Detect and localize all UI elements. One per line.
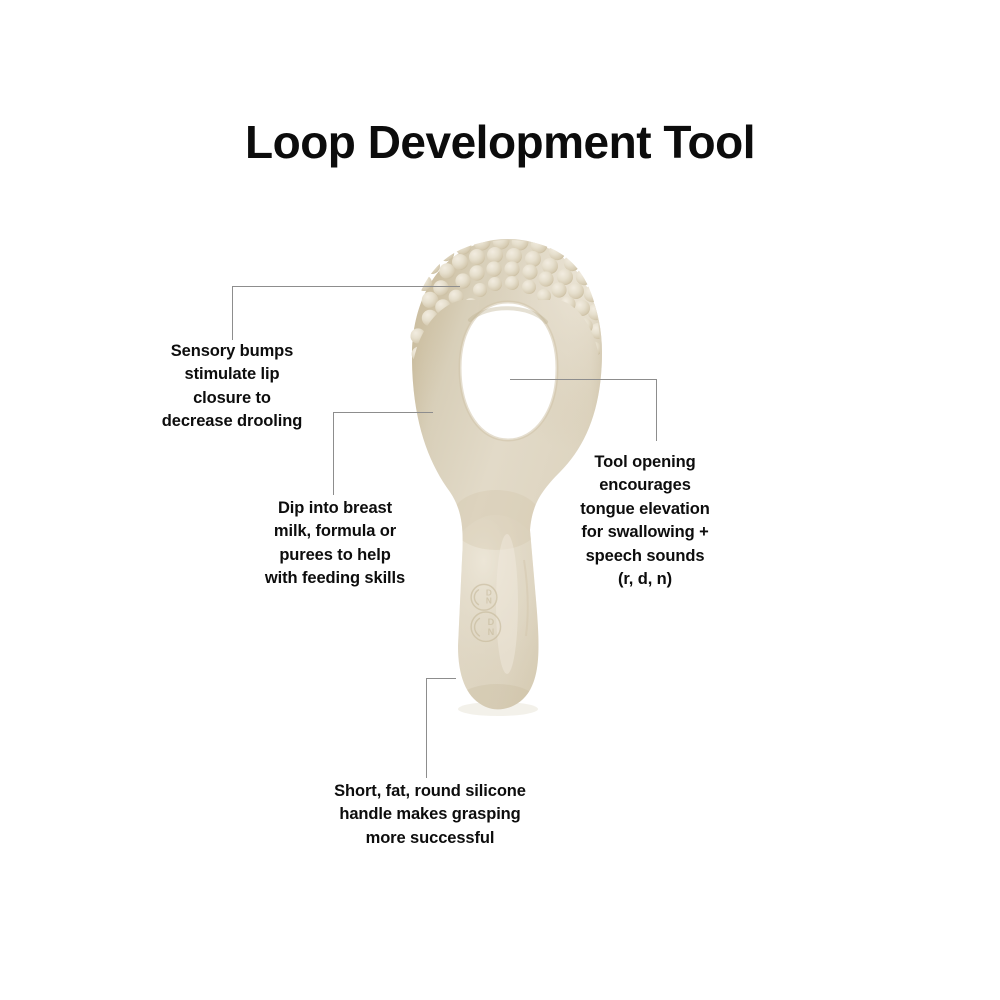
callout-line: Sensory bumps — [130, 340, 334, 363]
callout-silicone-handle: Short, fat, round silicone handle makes … — [306, 780, 554, 850]
callout-line: Short, fat, round silicone — [306, 780, 554, 803]
svg-text:N: N — [488, 627, 495, 637]
callout-line: with feeding skills — [238, 567, 432, 590]
leader-line-handle-vertical — [426, 678, 427, 778]
leader-line-sensory-bumps-vertical — [232, 286, 233, 340]
svg-text:N: N — [486, 597, 492, 606]
callout-line: stimulate lip — [130, 363, 334, 386]
callout-line: tongue elevation — [560, 498, 730, 521]
callout-line: (r, d, n) — [560, 568, 730, 591]
infographic-canvas: Loop Development Tool — [0, 0, 1000, 1000]
callout-line: encourages — [560, 474, 730, 497]
callout-line: more successful — [306, 827, 554, 850]
callout-line: handle makes grasping — [306, 803, 554, 826]
callout-tool-opening: Tool opening encourages tongue elevation… — [560, 451, 730, 592]
callout-line: closure to — [130, 387, 334, 410]
leader-line-opening-horizontal — [510, 379, 656, 380]
leader-line-dip-horizontal — [333, 412, 433, 413]
leader-line-sensory-bumps-horizontal — [232, 286, 460, 287]
svg-text:D: D — [488, 617, 495, 627]
callout-line: decrease drooling — [130, 410, 334, 433]
callout-line: purees to help — [238, 544, 432, 567]
callout-line: Tool opening — [560, 451, 730, 474]
leader-line-opening-vertical — [656, 379, 657, 441]
callout-line: milk, formula or — [238, 520, 432, 543]
callout-sensory-bumps: Sensory bumps stimulate lip closure to d… — [130, 340, 334, 434]
callout-line: for swallowing + — [560, 521, 730, 544]
leader-line-handle-horizontal — [426, 678, 456, 679]
callout-dip-into-breast-milk: Dip into breast milk, formula or purees … — [238, 497, 432, 591]
callout-line: Dip into breast — [238, 497, 432, 520]
callout-line: speech sounds — [560, 545, 730, 568]
